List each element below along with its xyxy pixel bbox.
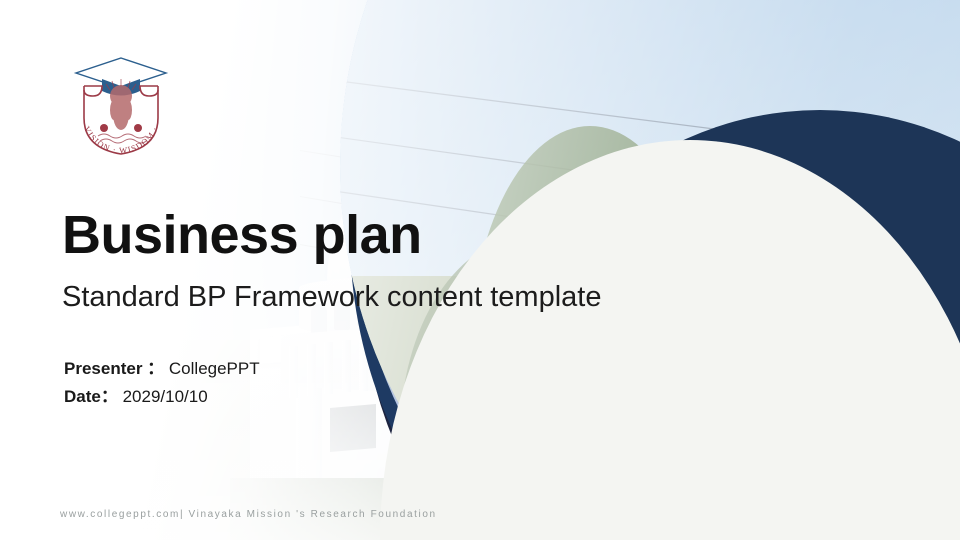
page-title: Business plan bbox=[62, 204, 422, 266]
presenter-label: Presenter ： bbox=[64, 359, 164, 378]
university-logo: VISION · WISDOM · UNITY bbox=[62, 44, 180, 166]
date-label: Date： bbox=[64, 387, 118, 406]
page-subtitle: Standard BP Framework content template bbox=[62, 281, 601, 314]
presentation-meta: Presenter ： CollegePPT Date： 2029/10/10 bbox=[64, 355, 260, 411]
presenter-value: CollegePPT bbox=[169, 359, 260, 378]
date-row: Date： 2029/10/10 bbox=[64, 383, 260, 411]
date-value: 2029/10/10 bbox=[123, 387, 208, 406]
presentation-slide: VISION · WISDOM · UNITY Business plan St… bbox=[0, 0, 960, 540]
lion-emblem bbox=[110, 85, 132, 130]
crest-svg: VISION · WISDOM · UNITY bbox=[62, 44, 180, 166]
presenter-row: Presenter ： CollegePPT bbox=[64, 355, 260, 383]
footer-credit: www.collegeppt.com| Vinayaka Mission 's … bbox=[60, 509, 437, 520]
